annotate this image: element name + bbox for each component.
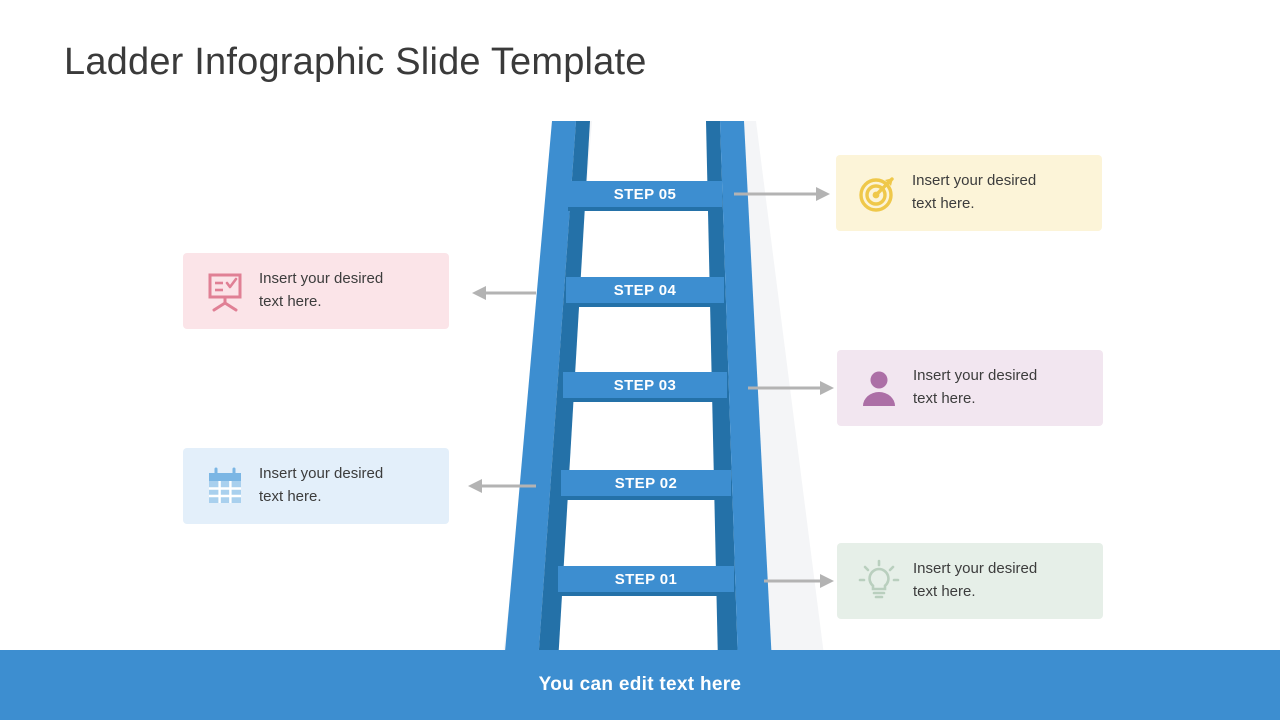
arrow-right-step-01 — [764, 572, 834, 590]
arrow-left-step-04 — [472, 284, 536, 302]
arrow-left-step-02 — [468, 477, 536, 495]
arrow-right-step-03 — [748, 379, 834, 397]
info-card-step-02[interactable]: Insert your desired text here. — [183, 448, 449, 524]
info-card-text: Insert your desired text here. — [905, 558, 1037, 604]
presentation-checklist-icon — [199, 268, 251, 314]
rung-label: STEP 02 — [615, 475, 678, 492]
info-card-text: Insert your desired text here. — [251, 463, 383, 509]
ladder-rung-step-01[interactable]: STEP 01 — [558, 566, 734, 592]
person-icon — [853, 365, 905, 411]
ladder-rung-step-03[interactable]: STEP 03 — [563, 372, 727, 398]
ladder-rung-step-02[interactable]: STEP 02 — [561, 470, 731, 496]
lightbulb-icon — [853, 558, 905, 604]
info-card-text: Insert your desired text here. — [251, 268, 383, 314]
target-icon — [852, 170, 904, 216]
info-card-step-05[interactable]: Insert your desired text here. — [836, 155, 1102, 231]
rung-label: STEP 03 — [614, 377, 677, 394]
rung-label: STEP 01 — [615, 571, 678, 588]
info-card-step-01[interactable]: Insert your desired text here. — [837, 543, 1103, 619]
info-card-text: Insert your desired text here. — [904, 170, 1036, 216]
arrow-right-step-05 — [734, 185, 830, 203]
info-card-text: Insert your desired text here. — [905, 365, 1037, 411]
info-card-step-03[interactable]: Insert your desired text here. — [837, 350, 1103, 426]
info-card-step-04[interactable]: Insert your desired text here. — [183, 253, 449, 329]
page-title: Ladder Infographic Slide Template — [64, 41, 647, 84]
calendar-icon — [199, 463, 251, 509]
bottom-banner[interactable]: You can edit text here — [0, 650, 1280, 720]
rung-label: STEP 04 — [614, 282, 677, 299]
rung-label: STEP 05 — [614, 186, 677, 203]
banner-text: You can edit text here — [539, 674, 742, 696]
ladder-rung-step-04[interactable]: STEP 04 — [566, 277, 724, 303]
ladder-rung-step-05[interactable]: STEP 05 — [568, 181, 722, 207]
